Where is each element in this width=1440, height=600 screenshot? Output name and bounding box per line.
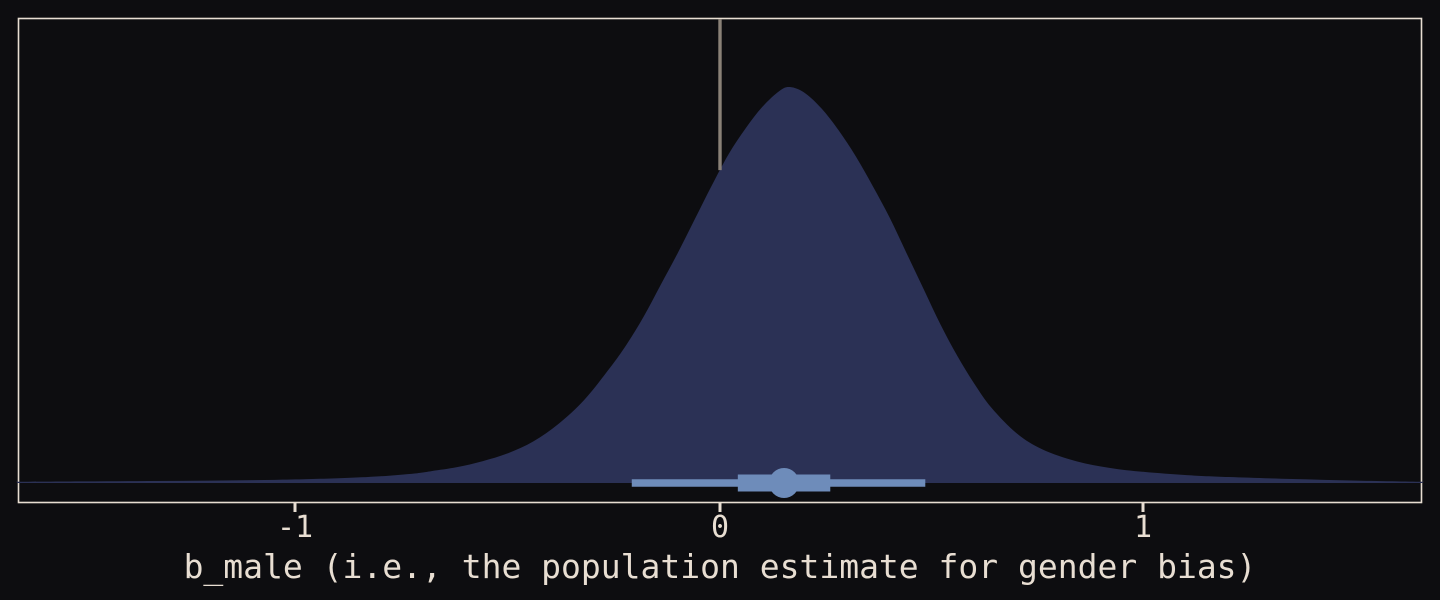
x-tick-label: 0 xyxy=(711,510,729,545)
x-axis-title: b_male (i.e., the population estimate fo… xyxy=(184,547,1257,587)
point-estimate-marker xyxy=(769,468,799,498)
posterior-density-chart: -1 0 1 b_male (i.e., the population esti… xyxy=(0,0,1440,600)
x-tick-label: -1 xyxy=(277,510,313,545)
density-plot-figure: -1 0 1 b_male (i.e., the population esti… xyxy=(0,0,1440,600)
x-tick-label: 1 xyxy=(1134,510,1152,545)
